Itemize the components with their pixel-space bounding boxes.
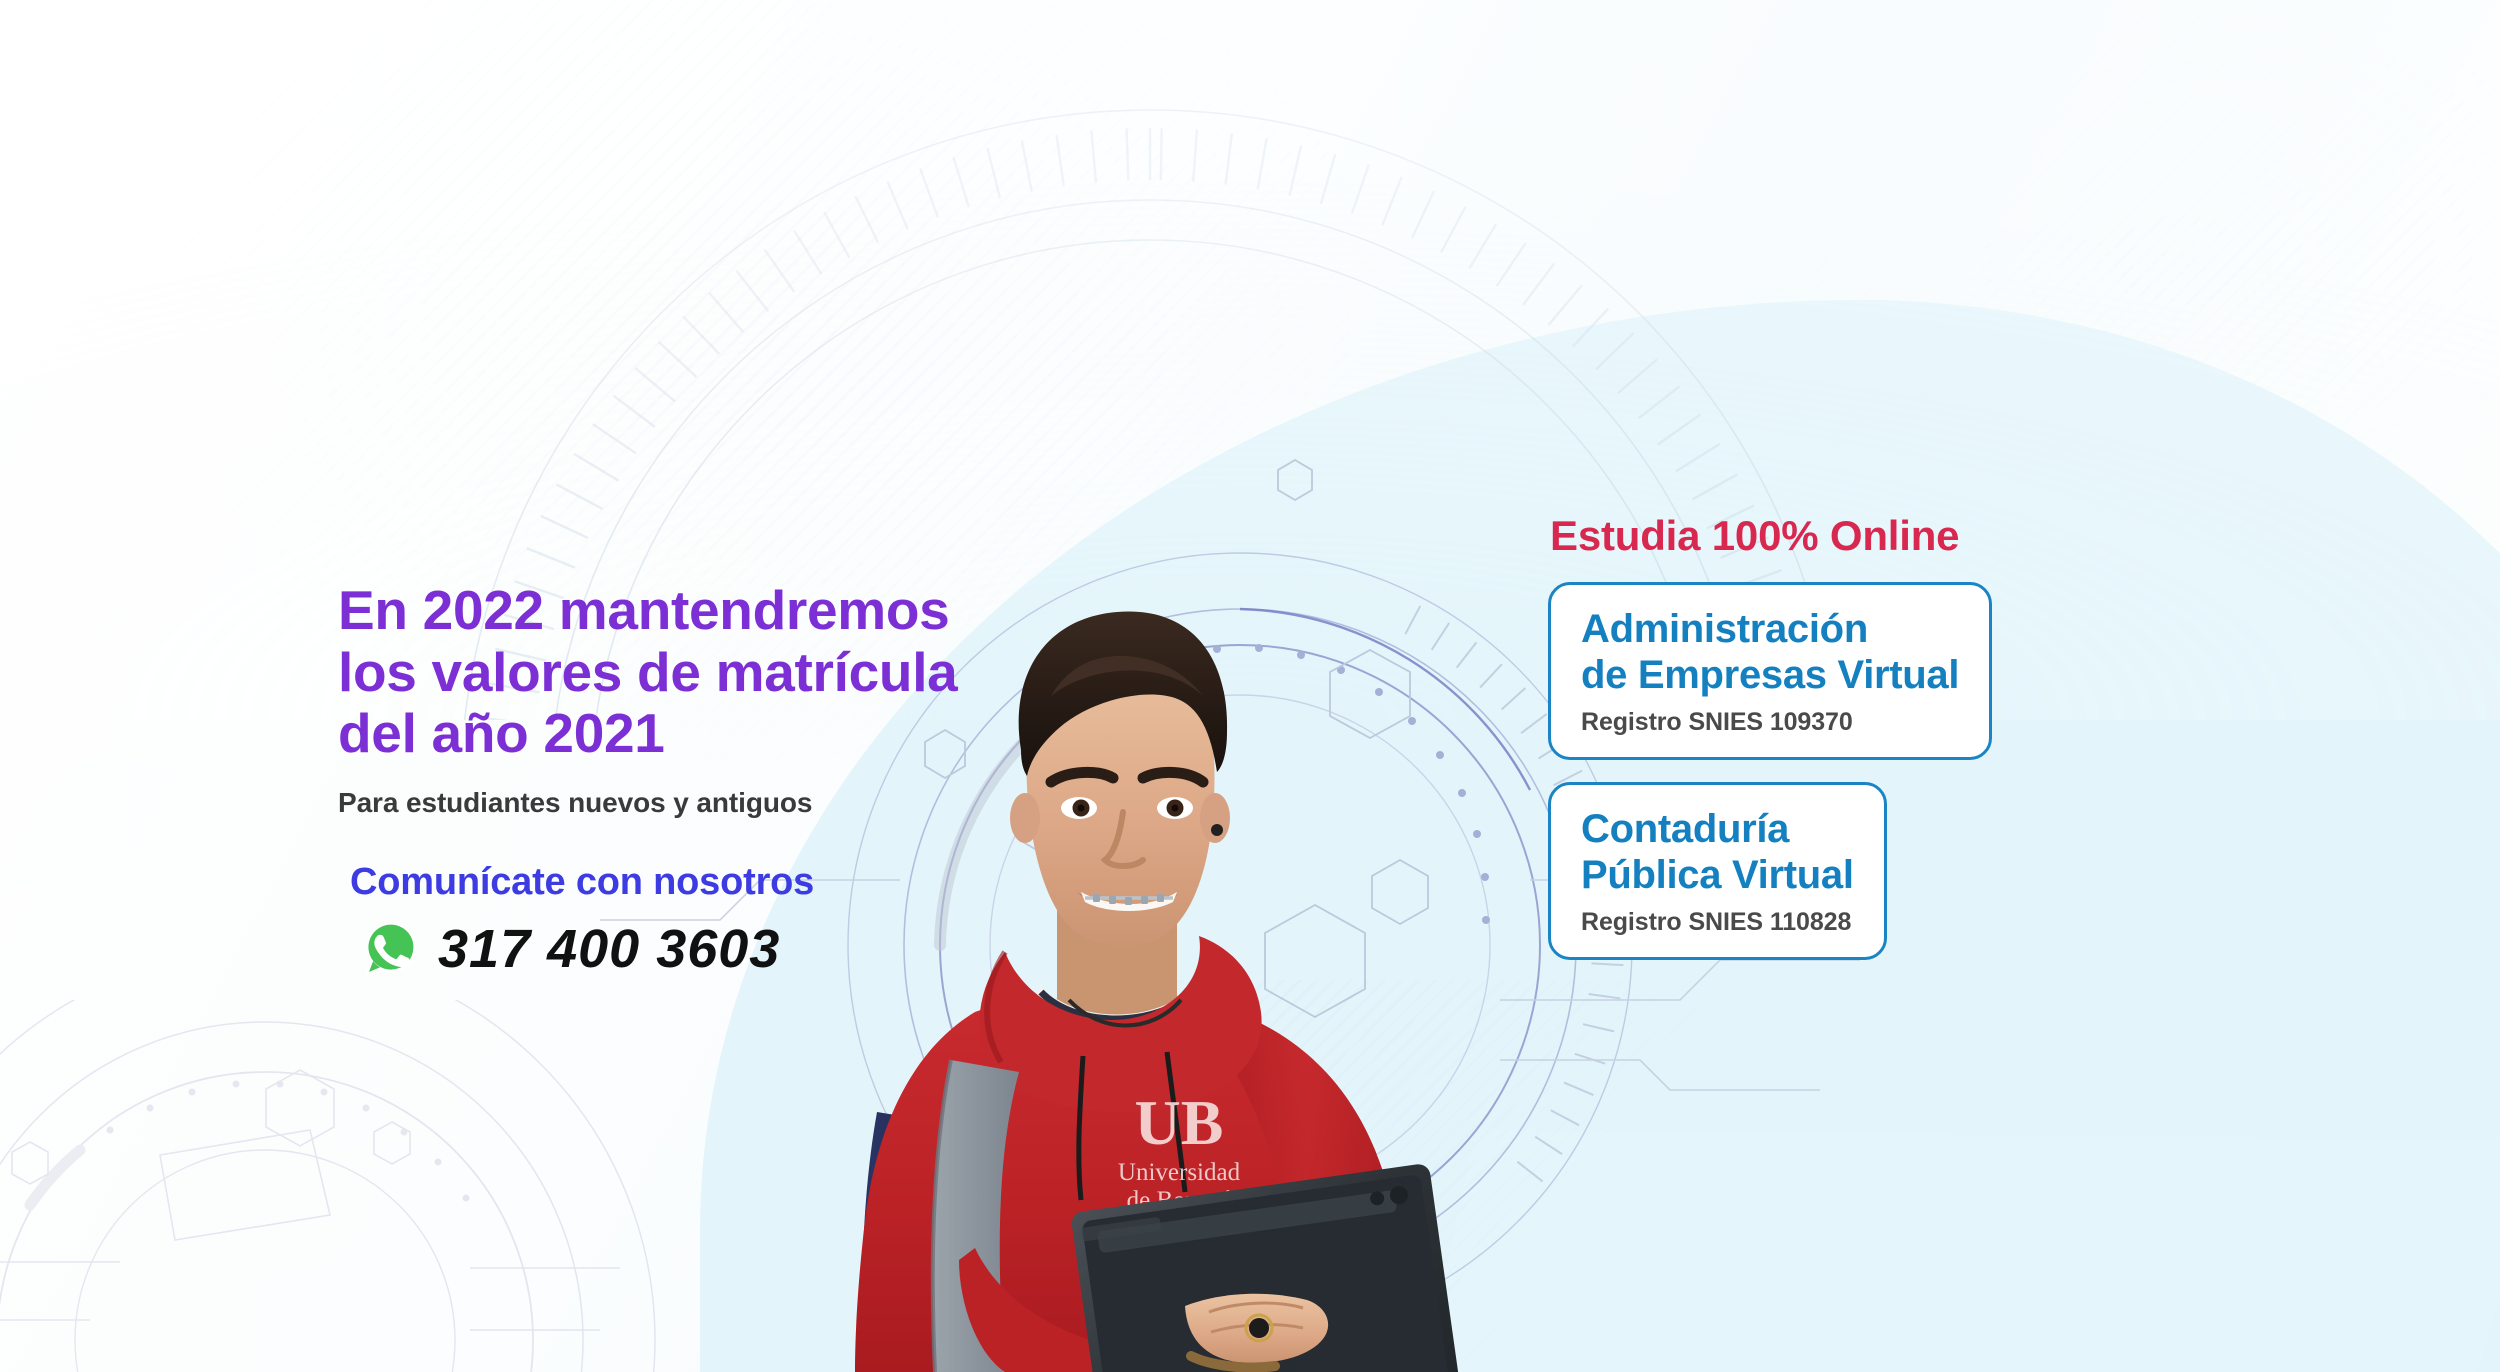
- student-photo: UB Universidad de Boyacá: [855, 500, 1535, 1372]
- whatsapp-icon[interactable]: [360, 919, 420, 979]
- program-card-contaduria[interactable]: Contaduría Pública Virtual Registro SNIE…: [1548, 782, 1887, 960]
- hoodie-logo-line1: Universidad: [1118, 1159, 1241, 1186]
- program-title: Contaduría Pública Virtual: [1581, 807, 1854, 898]
- ear-left: [1010, 793, 1040, 843]
- program-snies: Registro SNIES 110828: [1581, 908, 1854, 937]
- hoodie-logo-mark: UB: [1135, 1087, 1224, 1158]
- earring: [1211, 824, 1223, 836]
- program-snies: Registro SNIES 109370: [1581, 708, 1959, 737]
- ring: [1249, 1318, 1269, 1338]
- program-card-administracion[interactable]: Administración de Empresas Virtual Regis…: [1548, 582, 1992, 760]
- whatsapp-phone-number[interactable]: 317 400 3603: [438, 918, 780, 980]
- promo-banner: En 2022 mantendremos los valores de matr…: [0, 0, 2500, 1372]
- programs-eyebrow: Estudia 100% Online: [1550, 512, 2168, 560]
- student-illustration: UB Universidad de Boyacá: [855, 500, 1535, 1372]
- program-title: Administración de Empresas Virtual: [1581, 607, 1959, 698]
- programs-block: Estudia 100% Online Administración de Em…: [1548, 512, 2168, 982]
